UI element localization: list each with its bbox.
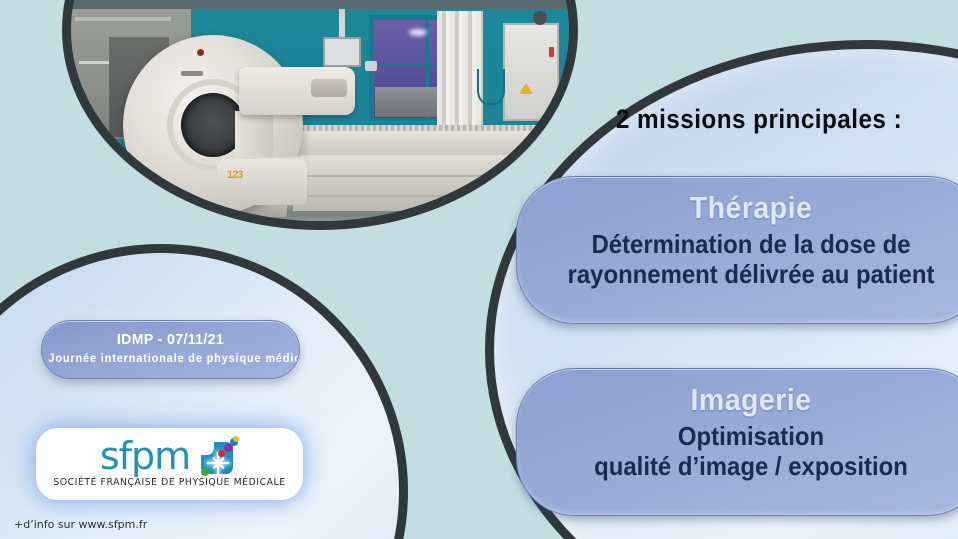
idmp-subtitle: Journée internationale de physique médic… xyxy=(48,353,292,365)
detector-head xyxy=(239,67,355,115)
sfpm-wordmark: sfpm xyxy=(100,437,190,475)
radiation-warning-icon xyxy=(519,83,533,94)
mission-body-imaging: Optimisation qualité d’image / expositio… xyxy=(536,422,958,481)
mission-heading-therapy: Thérapie xyxy=(536,190,958,226)
sfpm-starburst-logo-icon xyxy=(199,436,239,476)
detector-label: 123 xyxy=(227,169,242,181)
mission-body-line1-therapy: Détermination de la dose de xyxy=(591,229,910,259)
gantry-handle xyxy=(181,71,203,76)
room-illustration: 123 xyxy=(71,9,569,221)
sfpm-tagline: SOCIÉTÉ FRANÇAISE DE PHYSIQUE MÉDICALE xyxy=(36,477,303,488)
patient-table-top xyxy=(283,131,569,157)
logo-dot-yellow xyxy=(233,436,239,442)
mission-card-therapy[interactable]: Thérapie Détermination de la dose de ray… xyxy=(516,176,958,324)
slide-canvas: 123 2 missions principales : Thérapie Dé… xyxy=(0,0,958,539)
wall-socket-secondary xyxy=(365,61,377,71)
mission-body-line2-imaging: qualité d’image / exposition xyxy=(549,452,954,482)
mission-heading-imaging: Imagerie xyxy=(536,382,958,418)
footer-info-link[interactable]: +d’info sur www.sfpm.fr xyxy=(14,518,147,531)
mission-body-therapy: Détermination de la dose de rayonnement … xyxy=(536,230,958,289)
mission-body-line1-imaging: Optimisation xyxy=(678,421,824,451)
monitor-arm xyxy=(339,9,345,39)
gantry-indicator-icon xyxy=(197,49,204,56)
mission-body-line2-therapy: rayonnement délivrée au patient xyxy=(549,260,954,290)
sfpm-logo-card[interactable]: sfpm SOCIÉTÉ FRANÇAISE DE PHYSIQUE MÉDIC… xyxy=(36,428,303,500)
window-light-glow xyxy=(409,29,427,36)
shelf xyxy=(75,17,171,21)
sfpm-logo-row: sfpm xyxy=(36,434,303,478)
mission-card-imaging[interactable]: Imagerie Optimisation qualité d’image / … xyxy=(516,368,958,516)
idmp-title: IDMP - 07/11/21 xyxy=(50,331,292,348)
wall-monitor xyxy=(323,37,361,67)
lower-detector: 123 xyxy=(217,159,307,205)
status-led-icon xyxy=(549,47,554,57)
logo-dot-green xyxy=(201,468,209,476)
patient-table-base xyxy=(293,155,553,211)
dome-camera-icon xyxy=(533,11,547,25)
control-panel xyxy=(503,23,559,121)
idmp-badge[interactable]: IDMP - 07/11/21 Journée internationale d… xyxy=(41,320,300,379)
hanging-cable xyxy=(477,69,505,105)
detector-face xyxy=(311,79,347,97)
photo-inner-frame: 123 xyxy=(71,9,569,221)
scanner-room-photo: 123 xyxy=(62,0,578,230)
missions-title: 2 missions principales : xyxy=(580,104,938,135)
